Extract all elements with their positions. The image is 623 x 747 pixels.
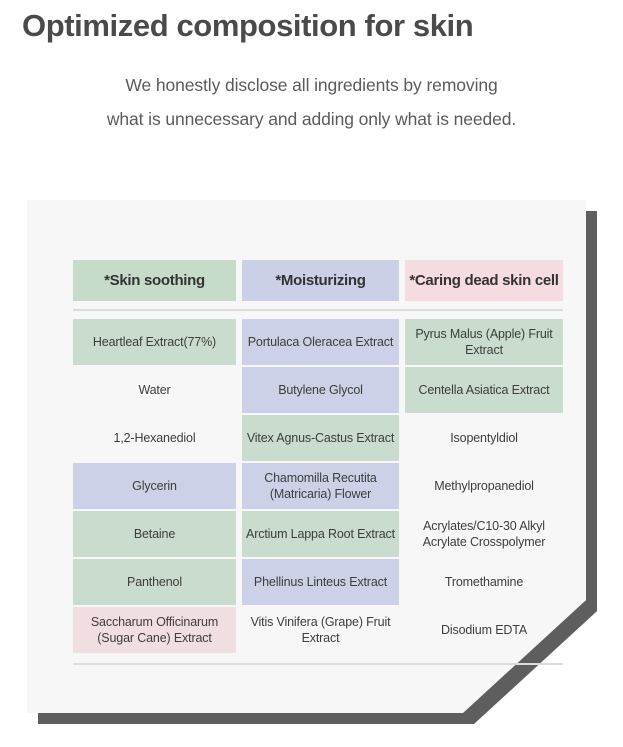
page-subtitle: We honestly disclose all ingredients by … (0, 46, 623, 136)
ingredient-cell: Arctium Lappa Root Extract (242, 511, 399, 557)
ingredient-cell: Pyrus Malus (Apple) Fruit Extract (405, 319, 563, 365)
page-header: Optimized composition for skin We honest… (0, 0, 623, 136)
ingredient-card: *Skin soothing*Moisturizing*Caring dead … (27, 200, 597, 724)
table-column-header: *Skin soothing (73, 260, 236, 301)
product-ingredient-page: Optimized composition for skin We honest… (0, 0, 623, 747)
ingredient-cell: Heartleaf Extract(77%) (73, 319, 236, 365)
table-body: Heartleaf Extract(77%)Portulaca Oleracea… (73, 319, 563, 653)
table-row: Saccharum Officinarum (Sugar Cane) Extra… (73, 607, 563, 653)
ingredient-cell: Butylene Glycol (242, 367, 399, 413)
table-row: 1,2-HexanediolVitex Agnus-Castus Extract… (73, 415, 563, 461)
ingredient-cell: Saccharum Officinarum (Sugar Cane) Extra… (73, 607, 236, 653)
header-divider (73, 309, 563, 311)
ingredient-cell: Acrylates/C10-30 Alkyl Acrylate Crosspol… (405, 511, 563, 557)
subtitle-line-1: We honestly disclose all ingredients by … (0, 68, 623, 102)
ingredient-cell: Centella Asiatica Extract (405, 367, 563, 413)
ingredient-cell: Betaine (73, 511, 236, 557)
footer-divider (73, 663, 563, 665)
ingredient-table: *Skin soothing*Moisturizing*Caring dead … (73, 260, 563, 665)
table-column-header: *Moisturizing (242, 260, 399, 301)
subtitle-line-2: what is unnecessary and adding only what… (0, 102, 623, 136)
table-header-row: *Skin soothing*Moisturizing*Caring dead … (73, 260, 563, 301)
ingredient-cell: Isopentyldiol (405, 415, 563, 461)
ingredient-cell: Water (73, 367, 236, 413)
table-row: GlycerinChamomilla Recutita (Matricaria)… (73, 463, 563, 509)
ingredient-cell: Tromethamine (405, 559, 563, 605)
ingredient-cell: Panthenol (73, 559, 236, 605)
ingredient-cell: Chamomilla Recutita (Matricaria) Flower (242, 463, 399, 509)
ingredient-cell: Vitex Agnus-Castus Extract (242, 415, 399, 461)
ingredient-cell: Portulaca Oleracea Extract (242, 319, 399, 365)
table-row: Heartleaf Extract(77%)Portulaca Oleracea… (73, 319, 563, 365)
table-row: WaterButylene GlycolCentella Asiatica Ex… (73, 367, 563, 413)
ingredient-cell: Phellinus Linteus Extract (242, 559, 399, 605)
ingredient-cell: Disodium EDTA (405, 607, 563, 653)
table-column-header: *Caring dead skin cell (405, 260, 563, 301)
table-row: PanthenolPhellinus Linteus ExtractTromet… (73, 559, 563, 605)
ingredient-cell: Glycerin (73, 463, 236, 509)
table-row: BetaineArctium Lappa Root ExtractAcrylat… (73, 511, 563, 557)
ingredient-cell: Vitis Vinifera (Grape) Fruit Extract (242, 607, 399, 653)
ingredient-cell: Methylpropanediol (405, 463, 563, 509)
ingredient-cell: 1,2-Hexanediol (73, 415, 236, 461)
page-title: Optimized composition for skin (0, 0, 623, 46)
